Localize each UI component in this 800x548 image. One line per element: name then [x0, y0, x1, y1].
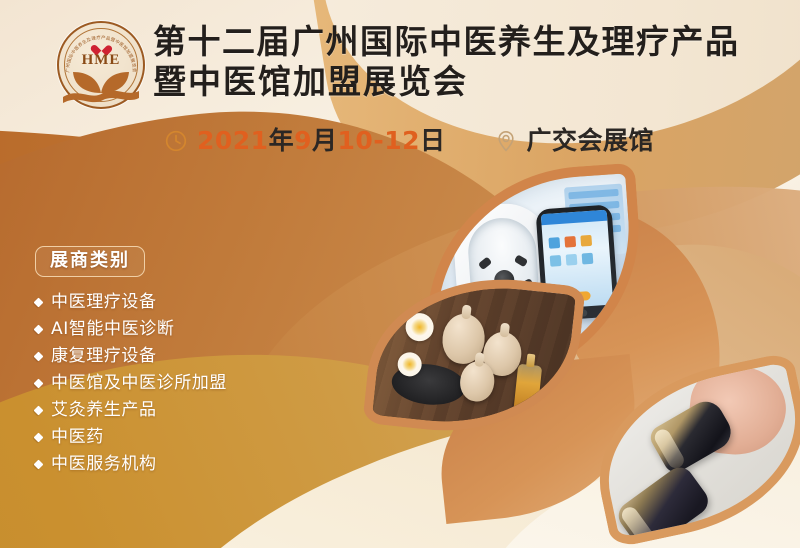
list-item: AI智能中医诊断 [35, 317, 305, 341]
list-item: 中医理疗设备 [35, 290, 305, 314]
list-item: 中医药 [35, 425, 305, 449]
device-nozzle [478, 256, 492, 270]
list-item: 中医服务机构 [35, 452, 305, 476]
spa-photo-inner [362, 266, 585, 445]
category-label: 中医药 [51, 425, 104, 449]
exhibitor-category-list: 中医理疗设备 AI智能中医诊断 康复理疗设备 中医馆及中医诊所加盟 艾灸养生产品… [35, 290, 305, 476]
event-meta-row: 2021年9月10-12日 广交会展馆 [164, 128, 654, 154]
exhibitor-category-heading: 展商类别 [50, 251, 130, 271]
banner-header: 广州国际中医养生及理疗产品暨中医馆加盟展览会 HME 第十二届广州国际中医养生及… [0, 0, 800, 172]
cupping-therapy-photo [580, 351, 800, 548]
date-days: 10-12 [338, 126, 420, 155]
device-screen-tile [566, 254, 578, 266]
exhibitor-category-heading-box: 展商类别 [35, 246, 145, 277]
list-item: 中医馆及中医诊所加盟 [35, 371, 305, 395]
diamond-bullet-icon [34, 297, 44, 307]
cupping-cup [613, 462, 713, 548]
spa-herbal-compress-photo [362, 266, 585, 445]
list-item: 康复理疗设备 [35, 344, 305, 368]
device-screen-tile [548, 237, 560, 249]
date-month-unit: 月 [312, 126, 338, 155]
diamond-bullet-icon [34, 351, 44, 361]
category-label: 艾灸养生产品 [51, 398, 157, 422]
diamond-bullet-icon [34, 432, 44, 442]
device-screen-tile [580, 235, 592, 247]
exhibitor-category-panel: 展商类别 中医理疗设备 AI智能中医诊断 康复理疗设备 中医馆及中医诊所加盟 艾… [35, 246, 305, 479]
device-screen-tile [582, 253, 594, 265]
date-year: 2021 [197, 126, 269, 155]
event-venue: 广交会展馆 [494, 128, 655, 154]
event-title-line-1: 第十二届广州国际中医养生及理疗产品 [153, 22, 773, 62]
location-pin-icon [494, 129, 518, 153]
category-label: 康复理疗设备 [51, 344, 157, 368]
diamond-bullet-icon [34, 405, 44, 415]
date-day-unit: 日 [420, 126, 446, 155]
event-date: 2021年9月10-12日 [164, 128, 446, 154]
event-date-text: 2021年9月10-12日 [197, 128, 446, 154]
event-title-line-2: 暨中医馆加盟展览会 [153, 62, 773, 102]
photo-collage [398, 176, 800, 548]
category-label: 中医服务机构 [51, 452, 157, 476]
category-label: AI智能中医诊断 [51, 317, 174, 341]
wave-icon [61, 83, 141, 105]
event-venue-text: 广交会展馆 [527, 128, 655, 154]
logo-mark-text: HME [57, 52, 145, 69]
diamond-bullet-icon [34, 459, 44, 469]
event-title: 第十二届广州国际中医养生及理疗产品 暨中医馆加盟展览会 [153, 22, 773, 102]
device-screen-titlebar [541, 210, 608, 226]
category-label: 中医理疗设备 [51, 290, 157, 314]
date-year-unit: 年 [269, 126, 295, 155]
cupping-photo-inner [580, 351, 800, 548]
list-item: 艾灸养生产品 [35, 398, 305, 422]
device-nozzle [514, 254, 528, 267]
expo-banner: 广州国际中医养生及理疗产品暨中医馆加盟展览会 HME 第十二届广州国际中医养生及… [0, 0, 800, 548]
device-screen-tile [550, 255, 562, 267]
diamond-bullet-icon [34, 378, 44, 388]
device-screen-tile [564, 236, 576, 248]
diamond-bullet-icon [34, 324, 44, 334]
date-month: 9 [294, 126, 312, 155]
hme-logo: 广州国际中医养生及理疗产品暨中医馆加盟展览会 HME [57, 21, 145, 109]
category-label: 中医馆及中医诊所加盟 [51, 371, 227, 395]
clock-icon [164, 129, 188, 153]
